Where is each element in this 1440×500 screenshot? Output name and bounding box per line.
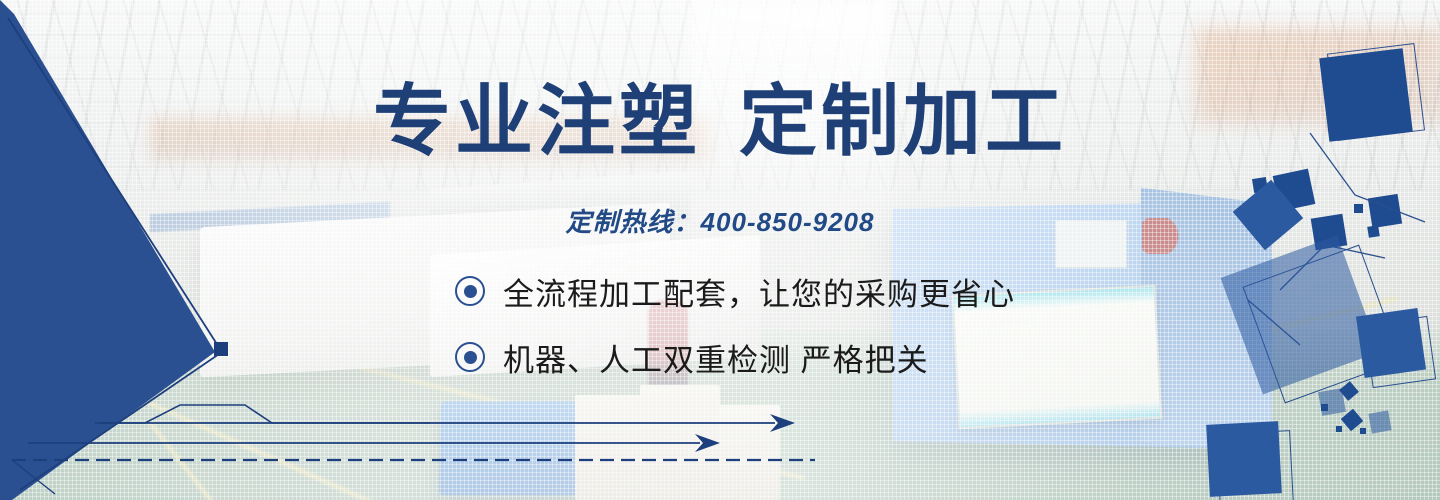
banner-title: 专业注塑定制加工 bbox=[0, 82, 1440, 160]
list-item-label: 全流程加工配套，让您的采购更省心 bbox=[503, 269, 1015, 314]
hotline-text: 定制热线：400-850-9208 bbox=[0, 202, 1440, 239]
list-item: 全流程加工配套，让您的采购更省心 bbox=[455, 266, 1015, 316]
banner-content: 专业注塑定制加工 定制热线：400-850-9208 全流程加工配套，让您的采购… bbox=[0, 0, 1440, 500]
feature-bullet-list: 全流程加工配套，让您的采购更省心 机器、人工双重检测 严格把关 bbox=[455, 266, 1015, 398]
list-item: 机器、人工双重检测 严格把关 bbox=[455, 332, 1015, 382]
title-part-1: 专业注塑 bbox=[373, 77, 701, 165]
promo-banner: 专业注塑定制加工 定制热线：400-850-9208 全流程加工配套，让您的采购… bbox=[0, 0, 1440, 500]
radio-bullet-icon bbox=[455, 342, 485, 372]
title-part-2: 定制加工 bbox=[739, 77, 1067, 165]
radio-bullet-icon bbox=[455, 276, 485, 306]
list-item-label: 机器、人工双重检测 严格把关 bbox=[503, 335, 929, 380]
